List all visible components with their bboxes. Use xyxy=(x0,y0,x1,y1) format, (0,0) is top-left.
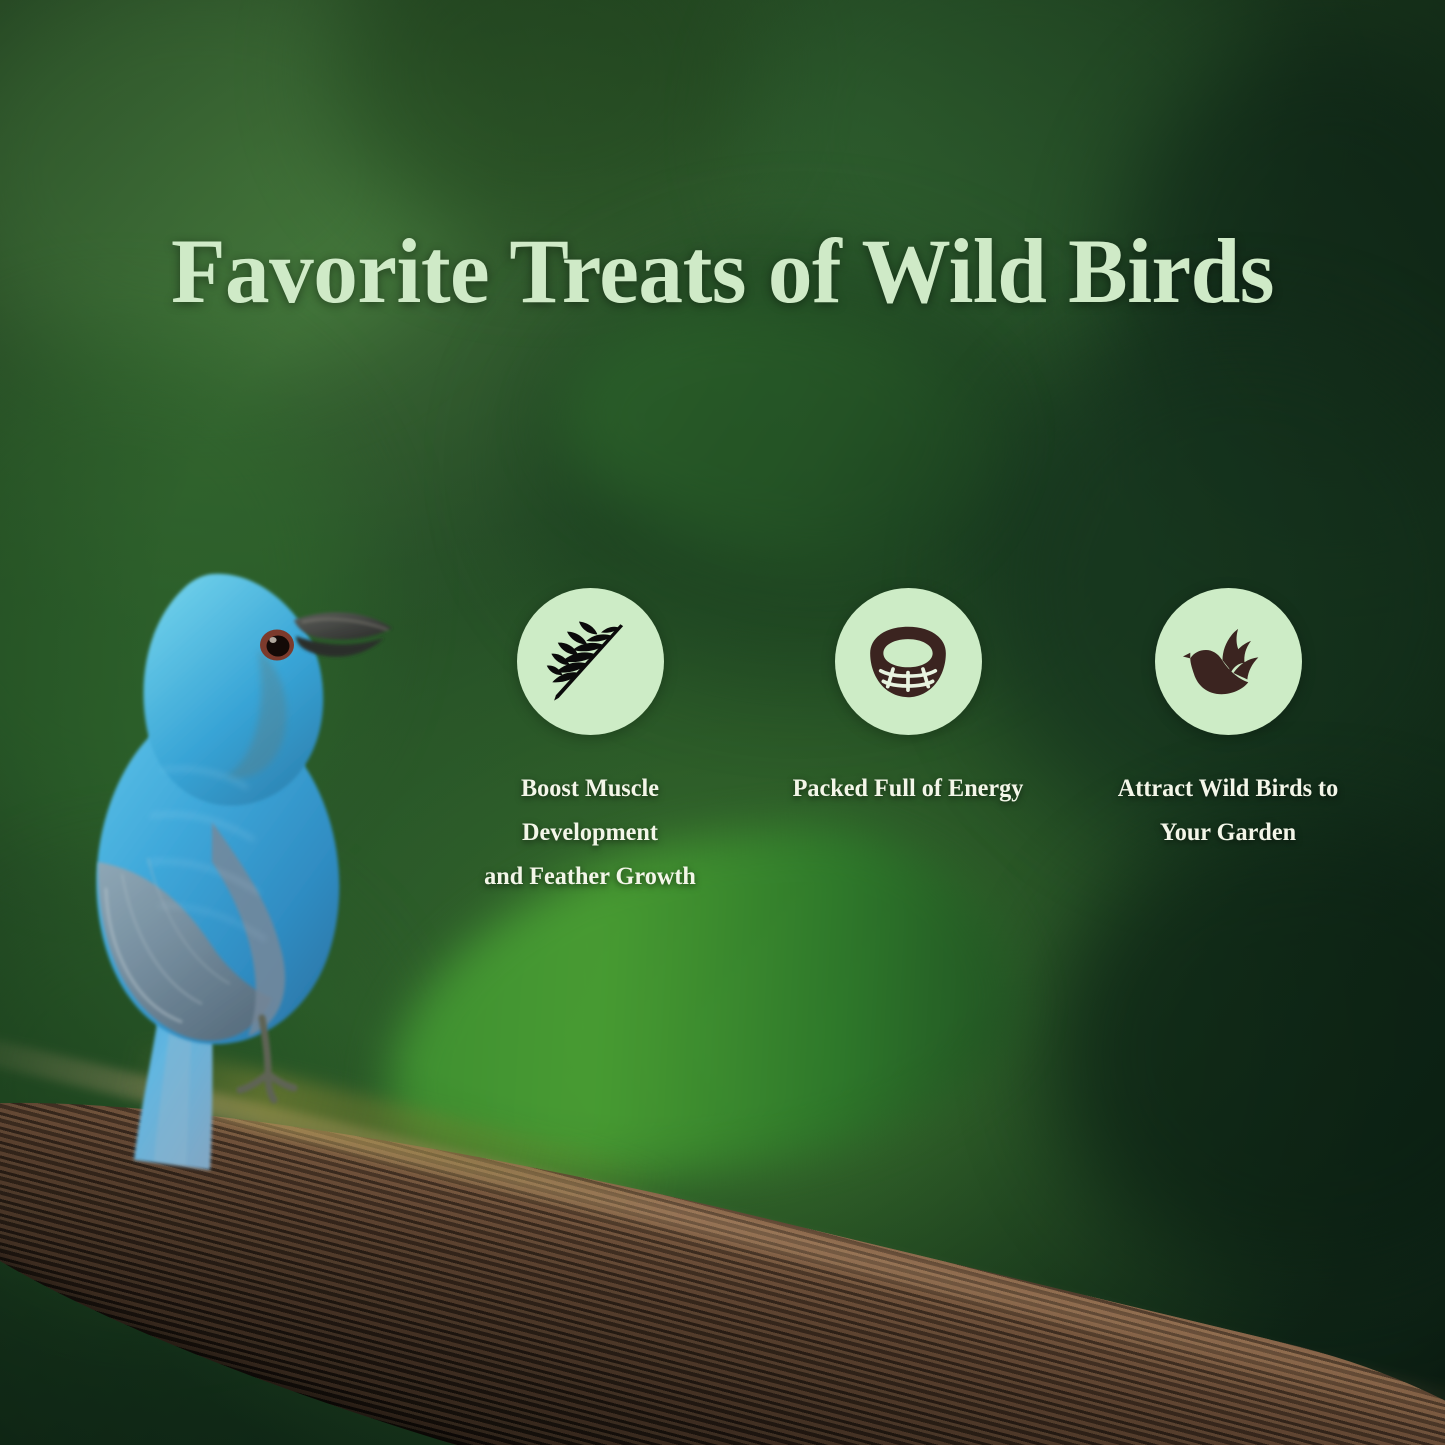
feature-icon-circle xyxy=(1155,588,1302,735)
feature-list: Boost Muscle Development and Feather Gro… xyxy=(440,588,1380,898)
feature-item-energy: Packed Full of Energy xyxy=(758,588,1058,810)
feature-item-attract-birds: Attract Wild Birds to Your Garden xyxy=(1078,588,1378,854)
feature-icon-circle xyxy=(517,588,664,735)
feature-label: Attract Wild Birds to Your Garden xyxy=(1086,766,1371,854)
flying-bird-icon xyxy=(1182,616,1274,708)
product-lifestyle-image: Favorite Treats of Wild Birds xyxy=(0,0,1445,1445)
feature-label: Packed Full of Energy xyxy=(766,766,1051,810)
page-title: Favorite Treats of Wild Birds xyxy=(22,225,1424,317)
feather-icon xyxy=(544,616,636,708)
feature-icon-circle xyxy=(835,588,982,735)
blue-bird-photo xyxy=(62,470,422,1170)
feature-item-muscle-development: Boost Muscle Development and Feather Gro… xyxy=(440,588,740,898)
feature-label: Boost Muscle Development and Feather Gro… xyxy=(448,766,733,898)
nest-icon xyxy=(864,618,952,706)
